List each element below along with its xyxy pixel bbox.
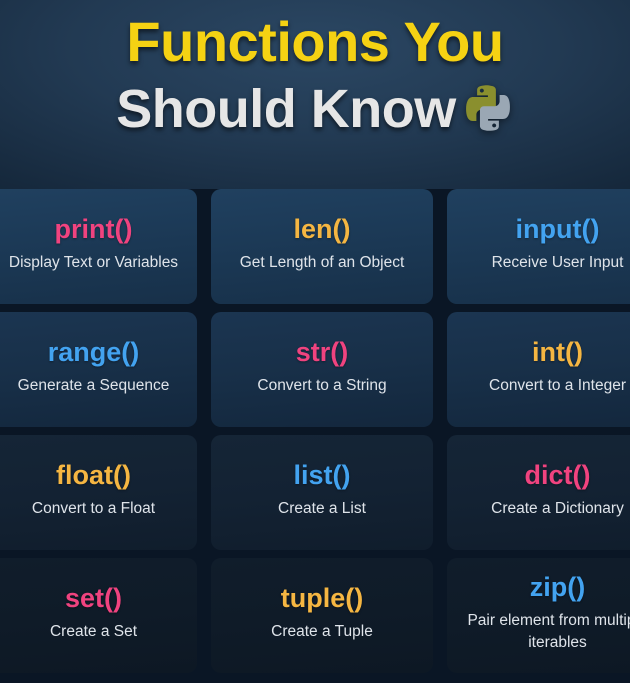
functions-row-2: range() Generate a Sequence str() Conver…: [0, 312, 630, 427]
function-description: Create a Dictionary: [491, 498, 624, 520]
function-description: Convert to a Integer: [489, 375, 626, 397]
header-banner: Functions You Should Know: [0, 0, 630, 189]
function-card-len[interactable]: len() Get Length of an Object: [211, 189, 433, 304]
function-card-zip[interactable]: zip() Pair element from multiple iterabl…: [447, 558, 630, 673]
function-description: Generate a Sequence: [18, 375, 170, 397]
page-title-line-2: Should Know: [116, 82, 455, 136]
functions-row-3: float() Convert to a Float list() Create…: [0, 435, 630, 550]
function-card-print[interactable]: print() Display Text or Variables: [0, 189, 197, 304]
function-name: set(): [65, 584, 122, 614]
function-name: len(): [294, 215, 351, 245]
function-name: str(): [296, 338, 349, 368]
function-card-float[interactable]: float() Convert to a Float: [0, 435, 197, 550]
function-description: Convert to a Float: [32, 498, 155, 520]
function-name: int(): [532, 338, 583, 368]
function-card-int[interactable]: int() Convert to a Integer: [447, 312, 630, 427]
function-card-list[interactable]: list() Create a List: [211, 435, 433, 550]
function-name: dict(): [525, 461, 591, 491]
function-name: float(): [56, 461, 131, 491]
infographic-root: Functions You Should Know print() Displa…: [0, 0, 630, 683]
function-name: tuple(): [281, 584, 363, 614]
header-title-block: Functions You Should Know: [0, 14, 630, 136]
function-description: Pair element from multiple iterables: [463, 610, 630, 654]
function-name: print(): [55, 215, 133, 245]
function-name: zip(): [530, 573, 585, 603]
page-title-line-1: Functions You: [0, 14, 630, 70]
function-description: Display Text or Variables: [9, 252, 178, 274]
function-card-str[interactable]: str() Convert to a String: [211, 312, 433, 427]
function-name: range(): [48, 338, 140, 368]
function-card-dict[interactable]: dict() Create a Dictionary: [447, 435, 630, 550]
function-card-set[interactable]: set() Create a Set: [0, 558, 197, 673]
function-card-tuple[interactable]: tuple() Create a Tuple: [211, 558, 433, 673]
function-description: Convert to a String: [257, 375, 386, 397]
function-name: list(): [294, 461, 351, 491]
functions-row-4: set() Create a Set tuple() Create a Tupl…: [0, 558, 630, 673]
function-card-input[interactable]: input() Receive User Input: [447, 189, 630, 304]
function-description: Get Length of an Object: [240, 252, 405, 274]
function-description: Create a Tuple: [271, 621, 373, 643]
function-description: Create a Set: [50, 621, 137, 643]
function-name: input(): [516, 215, 600, 245]
python-logo-icon: [462, 82, 514, 134]
page-title-line-2-row: Should Know: [0, 82, 630, 136]
functions-grid: print() Display Text or Variables len() …: [0, 189, 630, 683]
function-description: Receive User Input: [492, 252, 624, 274]
function-card-range[interactable]: range() Generate a Sequence: [0, 312, 197, 427]
function-description: Create a List: [278, 498, 366, 520]
functions-row-1: print() Display Text or Variables len() …: [0, 189, 630, 304]
